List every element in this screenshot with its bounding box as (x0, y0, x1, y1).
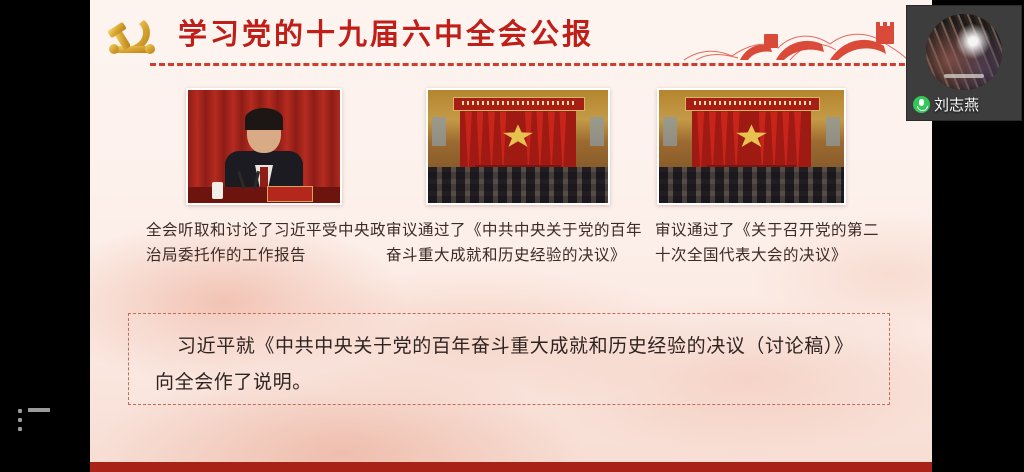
plenary-session-hall-photo (426, 88, 610, 205)
participant-video-tile[interactable]: 刘志燕 (907, 6, 1021, 120)
microphone-on-icon[interactable] (913, 96, 930, 113)
participant-avatar (926, 14, 1002, 90)
plenary-session-hall-photo-2 (657, 88, 846, 205)
left-rail (0, 0, 90, 472)
xi-jinping-speaking-photo (186, 88, 342, 205)
slide-bottom-bar (90, 462, 932, 472)
page-title: 学习党的十九届六中全会公报 (178, 16, 594, 52)
shared-slide: 学习党的十九届六中全会公报 (90, 0, 932, 472)
meeting-screen-share-view: 学习党的十九届六中全会公报 (0, 0, 1024, 472)
slide-main-textbox: 习近平就《中共中央关于党的百年奋斗重大成就和历史经验的决议（讨论稿）》向全会作了… (128, 313, 890, 405)
photo-caption-3: 审议通过了《关于召开党的第二十次全国代表大会的决议》 (655, 218, 885, 268)
list-view-icon[interactable] (16, 408, 50, 434)
photo-caption-2: 审议通过了《中共中央关于党的百年奋斗重大成就和历史经验的决议》 (386, 218, 646, 268)
slide-photo-row (90, 88, 932, 208)
participant-name-row: 刘志燕 (913, 94, 979, 115)
participant-name: 刘志燕 (934, 94, 979, 115)
slide-title-row: 学习党的十九届六中全会公报 (90, 8, 932, 70)
slide-caption-row: 全会听取和讨论了习近平受中央政治局委托作的工作报告 审议通过了《中共中央关于党的… (90, 218, 932, 278)
hammer-and-sickle-icon (102, 14, 164, 64)
photo-caption-1: 全会听取和讨论了习近平受中央政治局委托作的工作报告 (146, 218, 398, 268)
slide-main-text: 习近平就《中共中央关于党的百年奋斗重大成就和历史经验的决议（讨论稿）》向全会作了… (129, 314, 889, 400)
great-wall-icon (680, 14, 910, 66)
